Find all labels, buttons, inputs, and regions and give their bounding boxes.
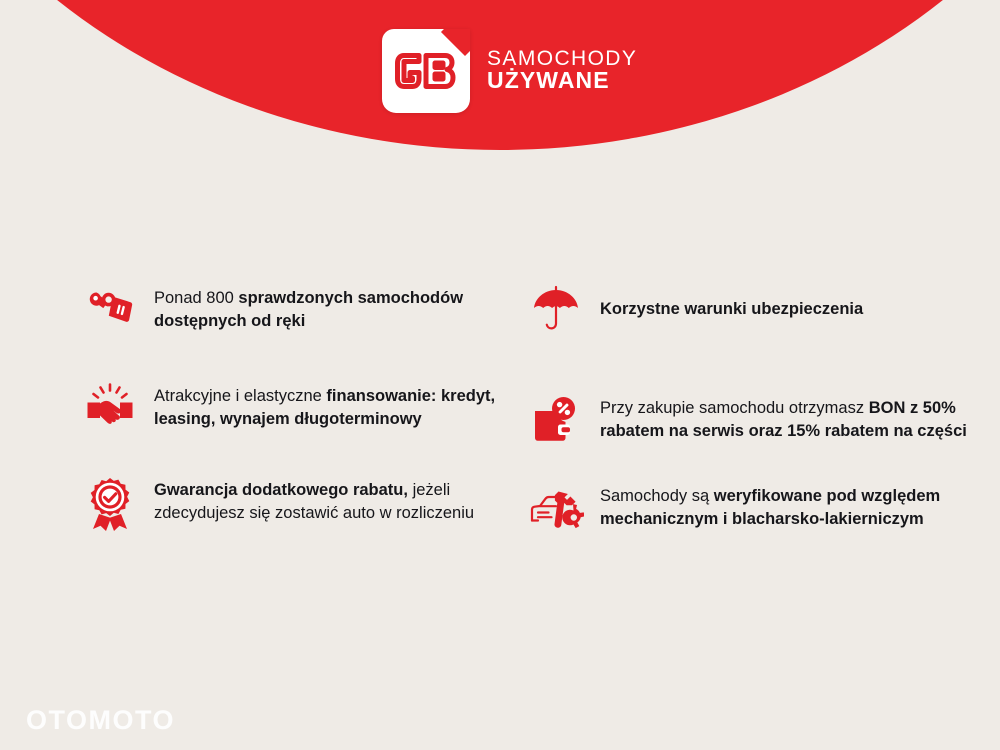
feature-text: Ponad 800 sprawdzonych samochodów dostęp… xyxy=(154,282,502,334)
promo-banner: SAMOCHODY UŻYWANE xyxy=(0,0,1000,750)
feature-text: Korzystne warunki ubezpieczenia xyxy=(600,282,863,321)
otomoto-watermark: OTOMOTO xyxy=(26,705,175,736)
feature-text-regular: Ponad 800 xyxy=(154,289,238,307)
award-badge-icon xyxy=(82,474,138,532)
feature-text-regular: Samochody są xyxy=(600,487,714,505)
wallet-percent-icon xyxy=(528,392,584,450)
feature-text: Samochody są weryfikowane pod względem m… xyxy=(600,480,968,532)
brand-logo[interactable]: SAMOCHODY UŻYWANE xyxy=(382,29,637,113)
feature-text-bold: Gwarancja dodatkowego rabatu, xyxy=(154,481,408,499)
feature-text: Gwarancja dodatkowego rabatu, jeżeli zde… xyxy=(154,474,502,526)
car-key-icon xyxy=(82,282,138,340)
feature-text-regular: Przy zakupie samochodu otrzymasz xyxy=(600,399,869,417)
feature-item-extra-discount: Gwarancja dodatkowego rabatu, jeżeli zde… xyxy=(82,474,502,532)
feature-item-verified-cars: Samochody są weryfikowane pod względem m… xyxy=(528,480,968,538)
handshake-icon xyxy=(82,380,138,438)
feature-text-bold: Korzystne warunki ubezpieczenia xyxy=(600,300,863,318)
feature-item-financing: Atrakcyjne i elastyczne finansowanie: kr… xyxy=(82,380,502,438)
brand-line-2: UŻYWANE xyxy=(487,69,637,92)
brand-wordmark: SAMOCHODY UŻYWANE xyxy=(487,48,637,95)
feature-item-cars-available: Ponad 800 sprawdzonych samochodów dostęp… xyxy=(82,282,502,340)
feature-item-service-voucher: Przy zakupie samochodu otrzymasz BON z 5… xyxy=(528,392,968,450)
umbrella-icon xyxy=(528,282,584,340)
feature-item-insurance: Korzystne warunki ubezpieczenia xyxy=(528,282,968,340)
gb-monogram-icon xyxy=(395,53,457,89)
brand-line-1: SAMOCHODY xyxy=(487,48,637,69)
features-column-right: Korzystne warunki ubezpieczenia xyxy=(528,282,968,538)
gb-logo-card xyxy=(382,29,470,113)
feature-text: Atrakcyjne i elastyczne finansowanie: kr… xyxy=(154,380,502,432)
feature-text: Przy zakupie samochodu otrzymasz BON z 5… xyxy=(600,392,968,444)
features-column-left: Ponad 800 sprawdzonych samochodów dostęp… xyxy=(82,282,502,532)
feature-text-regular: Atrakcyjne i elastyczne xyxy=(154,387,326,405)
car-wrench-icon xyxy=(528,480,584,538)
header: SAMOCHODY UŻYWANE xyxy=(0,0,1000,150)
